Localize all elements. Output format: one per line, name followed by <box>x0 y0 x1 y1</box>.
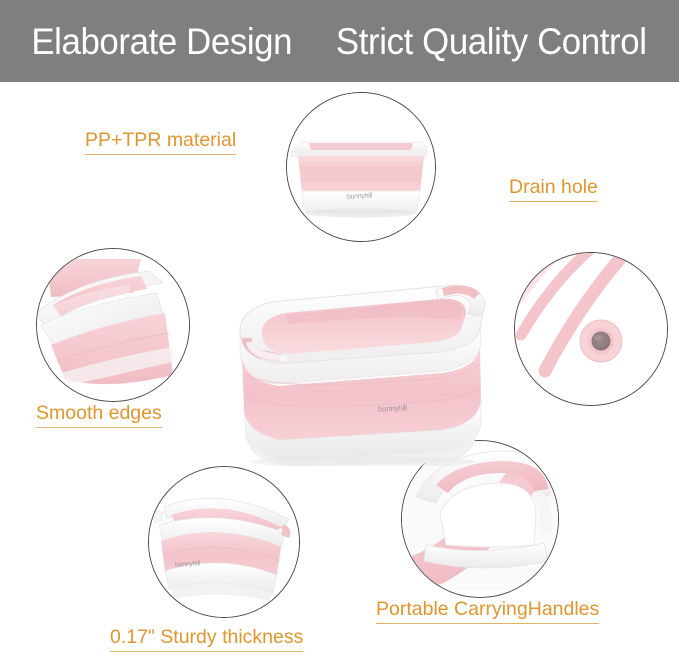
callout-circle-smooth-edges <box>36 248 190 402</box>
header-title-left: Elaborate Design <box>31 23 292 60</box>
label-portable-carrying-handles: Portable CarryingHandles <box>376 598 599 624</box>
main-product-image: bunnyhill <box>228 272 492 466</box>
smooth-edges-illustration <box>37 249 189 401</box>
header-title-right: Strict Quality Control <box>336 23 647 60</box>
callout-circle-thickness: bunnyhill <box>148 466 300 618</box>
header-band: Elaborate Design Strict Quality Control <box>0 0 679 82</box>
thickness-closeup-illustration <box>149 467 299 617</box>
brand-logo: bunnyhill <box>378 403 407 413</box>
brand-logo: bunnyhill <box>347 192 372 200</box>
header-titles: Elaborate Design Strict Quality Control <box>0 0 679 82</box>
drain-hole-illustration <box>515 253 667 405</box>
label-smooth-edges: Smooth edges <box>36 402 162 428</box>
brand-logo: bunnyhill <box>175 560 200 568</box>
label-pp-tpr-material: PP+TPR material <box>85 129 236 155</box>
material-closeup-illustration <box>287 93 435 241</box>
callout-circle-drain-hole <box>514 252 668 406</box>
callout-circle-material: bunnyhill <box>286 92 436 242</box>
label-drain-hole: Drain hole <box>509 176 598 202</box>
label-sturdy-thickness: 0.17" Sturdy thickness <box>110 626 303 652</box>
collapsible-basket-illustration <box>228 272 492 466</box>
infographic-page: Elaborate Design Strict Quality Control <box>0 0 679 652</box>
